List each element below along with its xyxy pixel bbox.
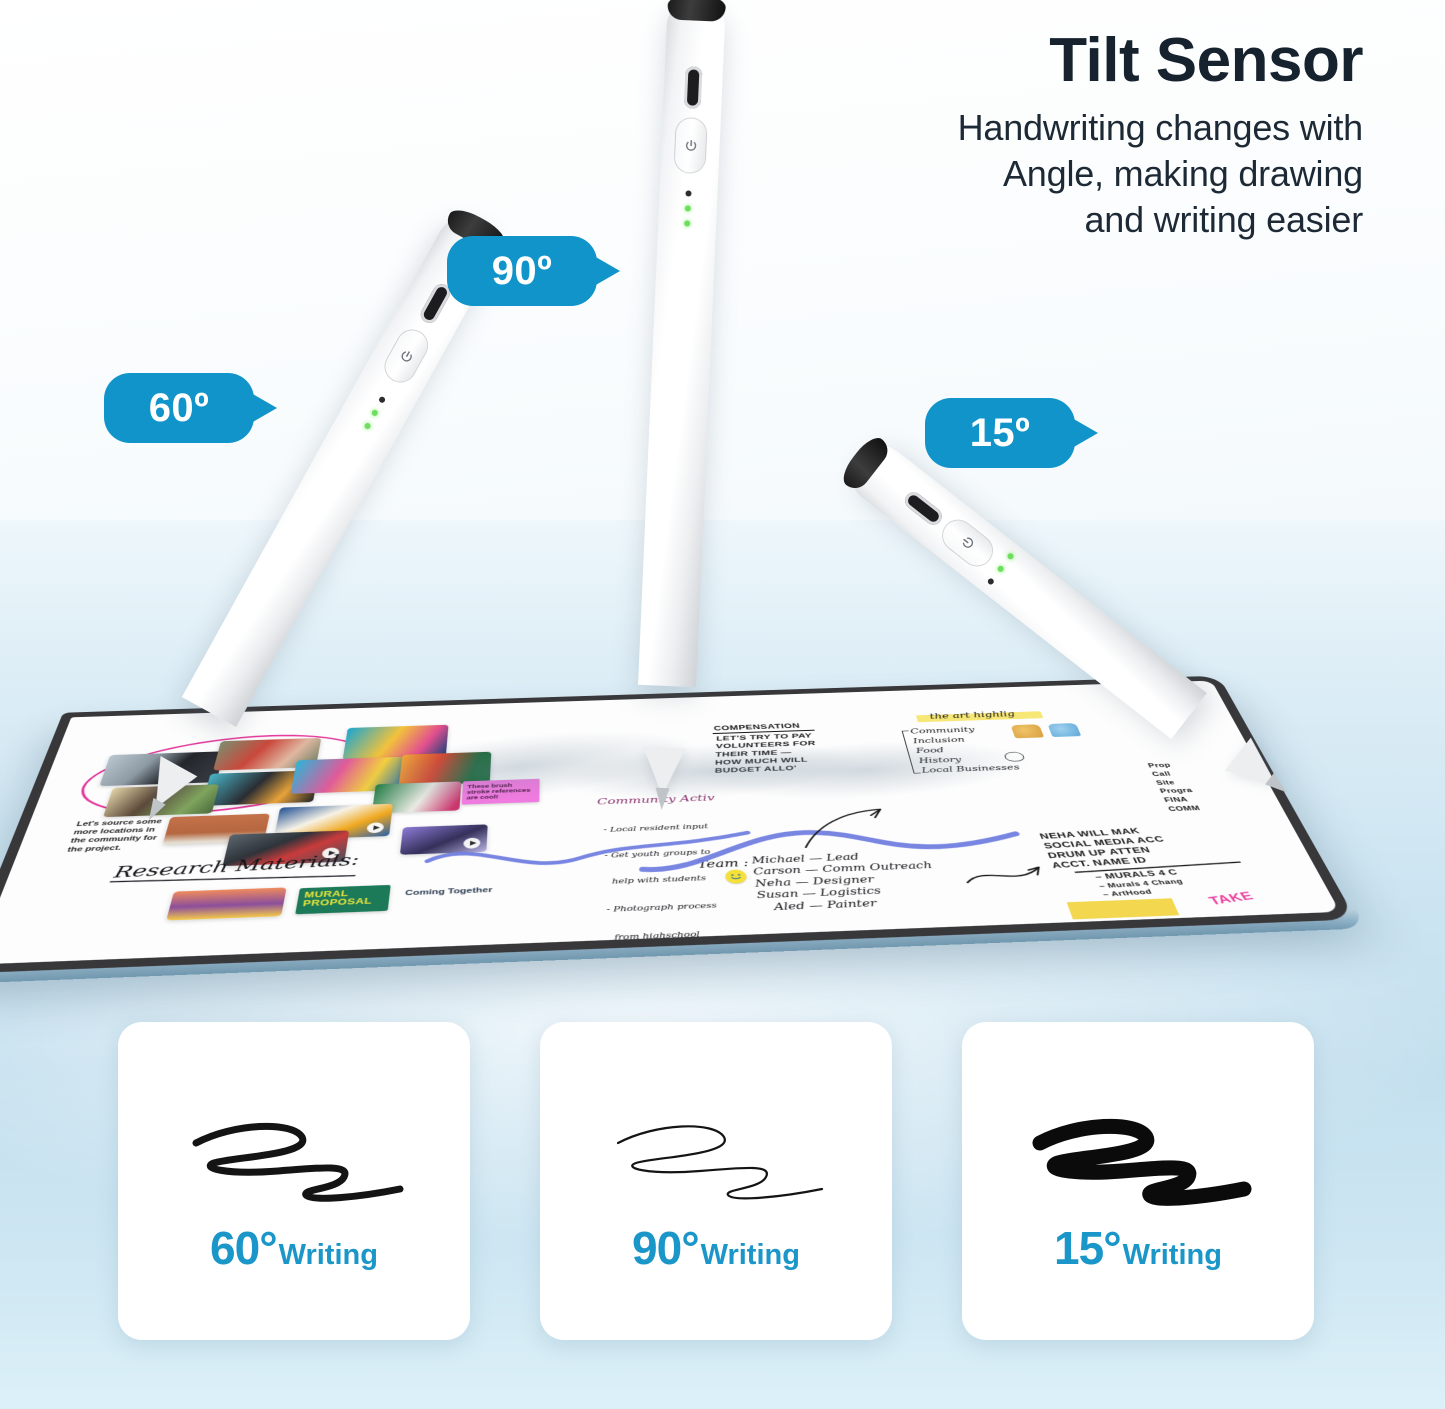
led-indicator — [685, 205, 691, 211]
collage-photo — [166, 887, 286, 920]
usb-c-port-icon — [902, 489, 946, 528]
mural-proposal-card: MURAL PROPOSAL — [295, 885, 391, 914]
coming-together-card: Coming Together — [405, 886, 493, 897]
arrow-annotation — [957, 858, 1052, 893]
activity-line-2: - Get youth groups to — [604, 848, 711, 860]
neha-note: NEHA WILL MAK SOCIAL MEDIA ACC DRUM UP A… — [1038, 825, 1175, 870]
play-icon — [463, 838, 480, 849]
power-button[interactable] — [674, 118, 706, 173]
card-word: Writing — [279, 1239, 378, 1272]
tablet-screen: Let's source some more locations in the … — [0, 681, 1340, 965]
angle-badge-90: 90º — [447, 236, 597, 306]
writing-sample-60[interactable]: 60° Writing — [118, 1022, 470, 1340]
angle-badge-label: 60º — [149, 386, 210, 431]
compensation-body: LET'S TRY TO PAY VOLUNTEERS FOR THEIR TI… — [715, 732, 817, 776]
hands-sticker-blue — [1047, 723, 1081, 737]
led-indicator — [684, 220, 690, 226]
take-stamp: TAKE — [1206, 889, 1257, 908]
note-source-locations: Let's source some more locations in the … — [66, 816, 189, 853]
stroke-sample-medium — [174, 1087, 414, 1215]
right-checklist: Prop Call Site Progra FINA COMM — [1147, 761, 1204, 814]
angle-badge-label: 15º — [970, 411, 1031, 456]
play-icon — [366, 822, 384, 833]
card-word: Writing — [1123, 1239, 1222, 1272]
subtitle-line-3: and writing easier — [763, 197, 1363, 243]
card-label: 90° Writing — [632, 1221, 800, 1275]
power-icon — [396, 346, 416, 366]
topic-item: Local Businesses — [921, 763, 1022, 776]
page-title: Tilt Sensor — [763, 28, 1363, 93]
power-icon — [683, 138, 699, 154]
stroke-sample-thick — [1018, 1087, 1258, 1215]
writing-sample-cards: 60° Writing 90° Writing 15° — [0, 1022, 1445, 1352]
led-indicators — [363, 396, 386, 430]
sticky-note-text: These brush stroke references are cool! — [466, 782, 535, 801]
angle-badge-label: 90º — [492, 249, 553, 294]
collage-photo-video — [400, 824, 488, 854]
stroke-sample-thin — [596, 1087, 836, 1215]
page-subtitle: Handwriting changes with Angle, making d… — [763, 105, 1363, 243]
led-indicator — [987, 577, 995, 585]
led-indicator — [371, 409, 379, 417]
angle-badge-15: 15º — [925, 398, 1075, 468]
angle-badge-60: 60º — [104, 373, 254, 443]
squiggle-stroke-icon — [174, 1091, 414, 1211]
led-indicator — [996, 565, 1004, 573]
card-label: 60° Writing — [210, 1221, 378, 1275]
promo-image-stage: Tilt Sensor Handwriting changes with Ang… — [0, 0, 1445, 1409]
led-indicator — [1006, 552, 1014, 560]
smiley-sticker — [725, 869, 748, 884]
activity-line-4: - Photograph process — [606, 901, 718, 915]
hands-sticker — [1010, 724, 1044, 738]
activity-line-1: - Local resident input — [603, 823, 708, 835]
team-heading: Team : — [697, 857, 749, 871]
sticky-note-yellow — [1067, 898, 1180, 919]
sticky-note-pink: These brush stroke references are cool! — [462, 779, 540, 805]
card-word: Writing — [701, 1239, 800, 1272]
writing-sample-15[interactable]: 15° Writing — [962, 1022, 1314, 1340]
card-degrees: 15° — [1054, 1221, 1121, 1275]
activity-list: - Local resident input - Get youth group… — [603, 806, 727, 964]
card-degrees: 90° — [632, 1221, 699, 1275]
team-list: Michael — Lead Carson — Comm Outreach Ne… — [751, 849, 943, 914]
mural-proposal-label: MURAL PROPOSAL — [302, 888, 384, 908]
arrow-annotation — [793, 804, 903, 851]
activity-line-5: from highschool — [607, 929, 721, 943]
coming-together-label: Coming Together — [405, 886, 493, 897]
writing-sample-90[interactable]: 90° Writing — [540, 1022, 892, 1340]
stylus-cap — [667, 0, 726, 22]
led-indicator — [378, 396, 386, 404]
led-indicator — [685, 190, 691, 196]
stylus-nib — [655, 788, 670, 811]
card-label: 15° Writing — [1054, 1221, 1222, 1275]
card-degrees: 60° — [210, 1221, 277, 1275]
squiggle-stroke-icon — [596, 1091, 836, 1211]
led-indicators — [987, 552, 1015, 586]
power-button[interactable] — [937, 515, 998, 572]
led-indicator — [363, 422, 371, 430]
squiggle-stroke-icon — [1018, 1091, 1258, 1211]
smiley-icon — [725, 869, 748, 884]
murals-list: – MURALS 4 C – Murals 4 Chang – ArtHood — [1093, 867, 1189, 898]
power-icon — [957, 532, 978, 553]
checklist-item: COMM — [1167, 804, 1204, 814]
power-button[interactable] — [380, 325, 432, 387]
activity-line-3: help with students — [605, 874, 714, 887]
subtitle-line-1: Handwriting changes with — [763, 105, 1363, 151]
subtitle-line-2: Angle, making drawing — [763, 151, 1363, 197]
topic-list: Community Inclusion Food History Local B… — [909, 724, 1021, 776]
headline-block: Tilt Sensor Handwriting changes with Ang… — [763, 28, 1363, 243]
led-indicators — [684, 190, 692, 226]
usb-c-port-icon — [684, 66, 703, 109]
